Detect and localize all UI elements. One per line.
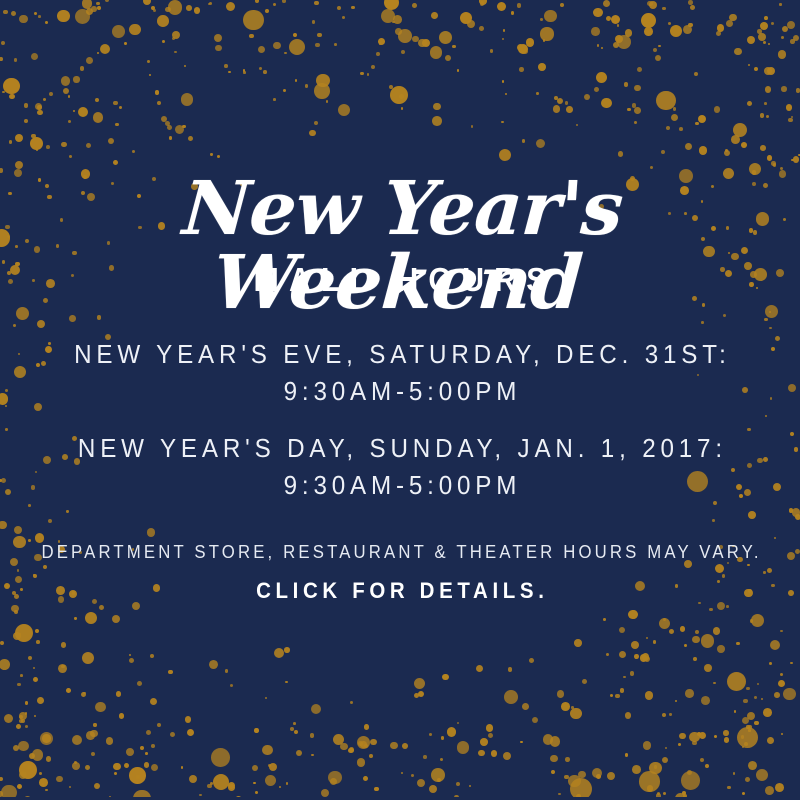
hours-time: 9:30AM-5:00PM: [28, 469, 772, 502]
new-years-mall-hours-poster: New Year's Weekend MALL HOURS NEW YEAR'S…: [0, 0, 800, 800]
hours-entry-new-years-eve: NEW YEAR'S EVE, SATURDAY, DEC. 31ST: 9:3…: [0, 338, 800, 409]
hours-label: NEW YEAR'S DAY, SUNDAY, JAN. 1, 2017:: [28, 432, 772, 465]
poster-content: New Year's Weekend MALL HOURS NEW YEAR'S…: [0, 0, 800, 800]
click-for-details-link[interactable]: CLICK FOR DETAILS.: [28, 578, 772, 604]
hours-entry-new-years-day: NEW YEAR'S DAY, SUNDAY, JAN. 1, 2017: 9:…: [0, 432, 800, 503]
hours-label: NEW YEAR'S EVE, SATURDAY, DEC. 31ST:: [28, 338, 772, 371]
page-subtitle: MALL HOURS: [32, 262, 768, 298]
hours-disclaimer: DEPARTMENT STORE, RESTAURANT & THEATER H…: [28, 542, 772, 563]
hours-time: 9:30AM-5:00PM: [28, 375, 772, 408]
